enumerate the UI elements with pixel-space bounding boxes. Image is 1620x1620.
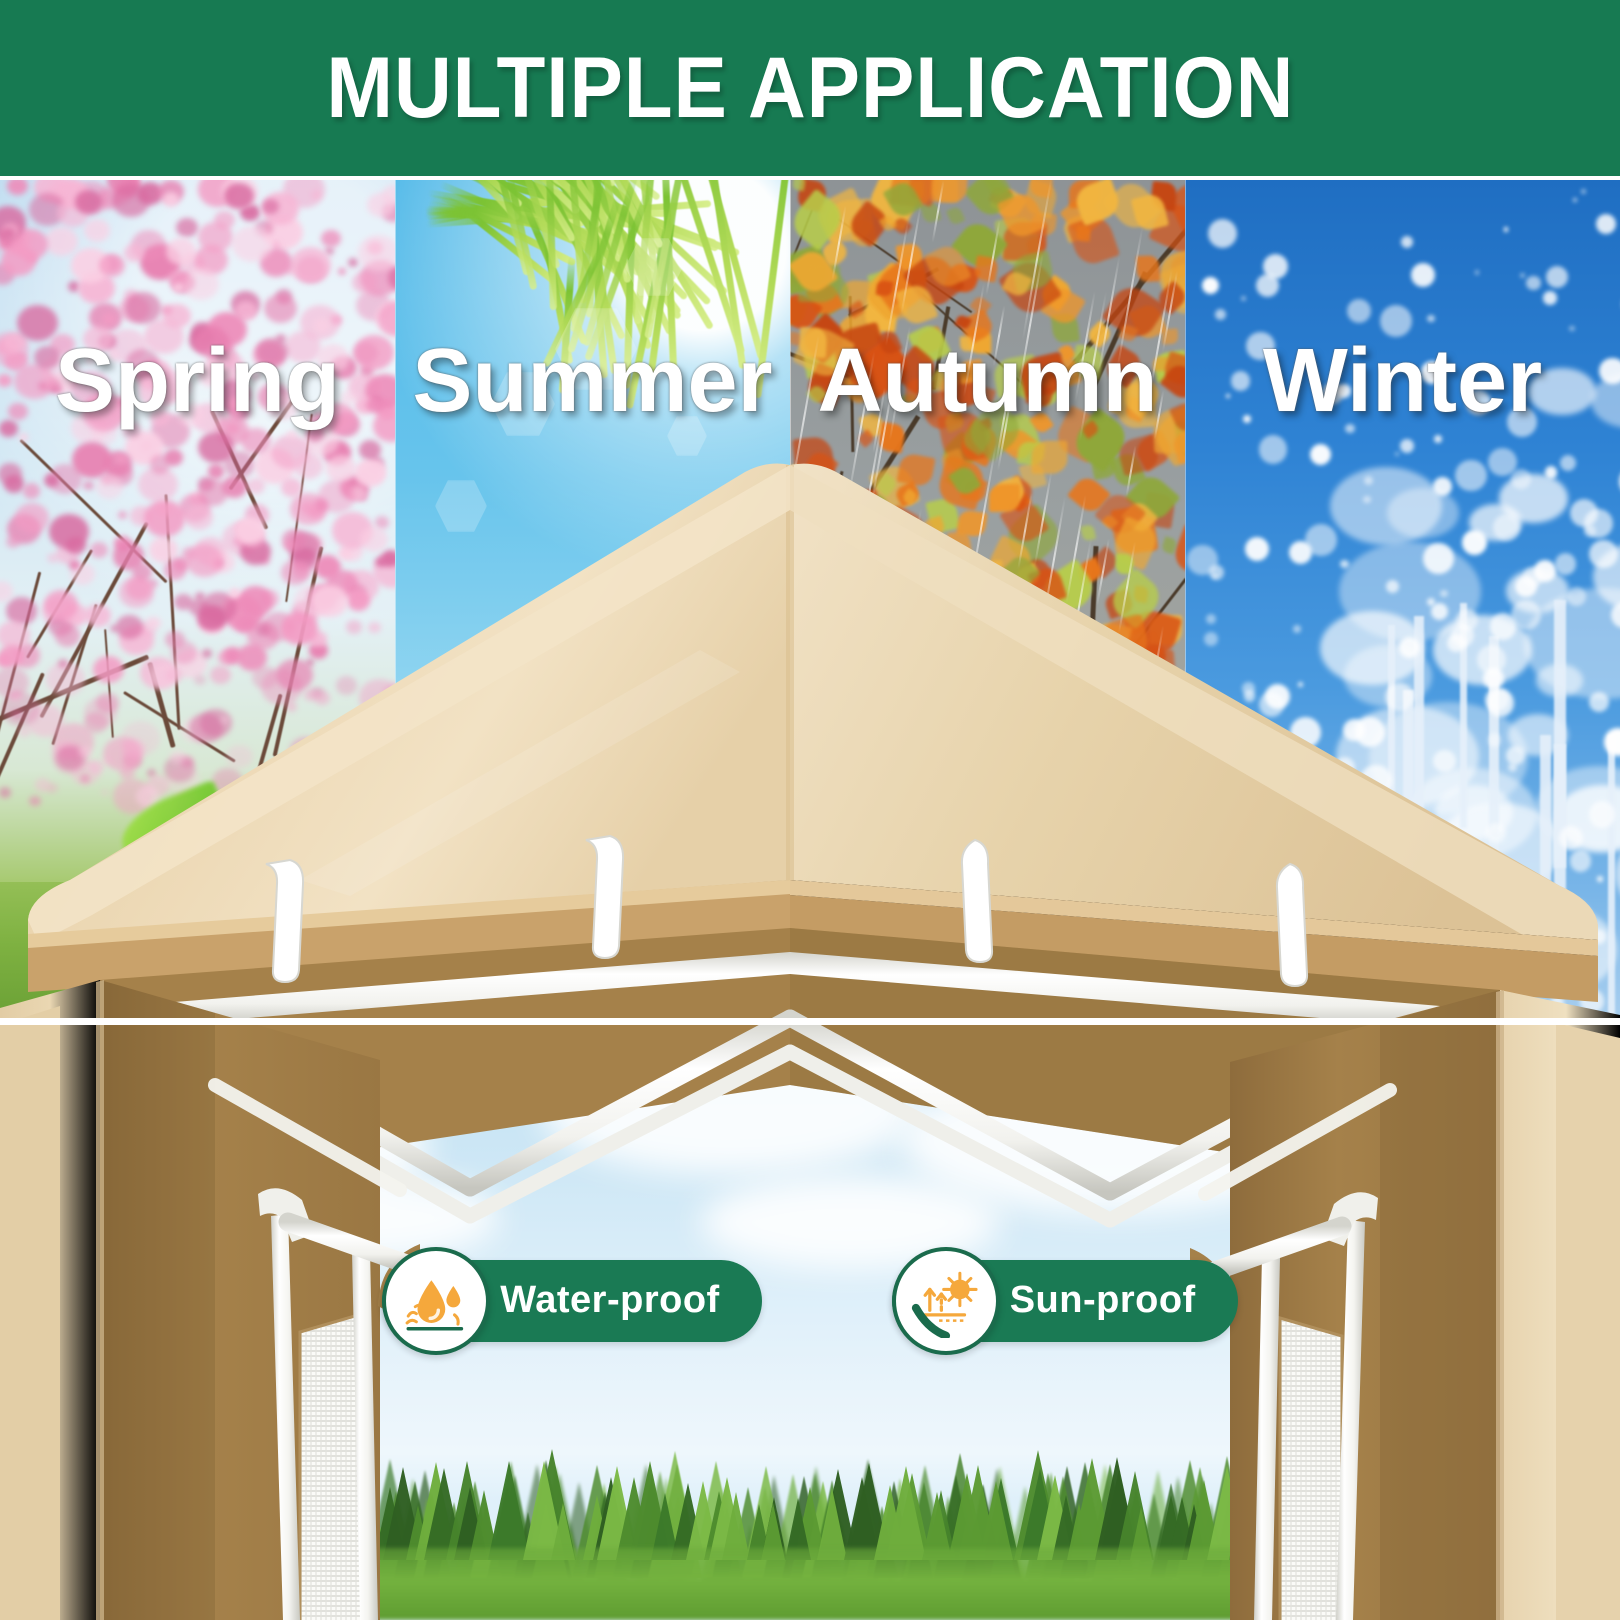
- snowflake: [1240, 1006, 1244, 1010]
- feature-badge-row: Water-proof Sun-proof: [0, 1243, 1620, 1358]
- season-panel-summer: Summer: [395, 180, 790, 1022]
- snowflake: [1567, 587, 1586, 606]
- cherry-blossom: [170, 750, 186, 764]
- cherry-blossom: [85, 604, 111, 627]
- cherry-blossom: [47, 553, 59, 564]
- snowflake: [1551, 995, 1565, 1009]
- season-label-summer: Summer: [395, 330, 790, 433]
- cherry-blossom: [166, 668, 183, 683]
- frosted-trunk: [1608, 735, 1616, 1022]
- cherry-blossom: [338, 268, 347, 276]
- feature-badge-waterproof[interactable]: Water-proof: [382, 1247, 761, 1355]
- cherry-blossom: [292, 562, 312, 579]
- snowflake: [1534, 560, 1555, 581]
- snowflake: [1462, 530, 1487, 555]
- season-panel-autumn: Autumn: [790, 180, 1185, 1022]
- cherry-blossom: [311, 585, 348, 618]
- cherry-blossom: [284, 540, 295, 550]
- snowflake: [1370, 825, 1398, 853]
- cherry-blossom: [176, 218, 197, 237]
- cherry-blossom: [346, 620, 362, 634]
- cherry-blossom: [171, 641, 198, 664]
- cherry-blossom: [185, 505, 213, 530]
- cherry-blossom: [264, 294, 297, 323]
- cherry-blossom: [163, 192, 179, 206]
- snowflake: [1279, 904, 1289, 914]
- rain-streak: [947, 938, 958, 990]
- snowflake: [1360, 765, 1391, 796]
- snowflake: [1597, 876, 1603, 882]
- snowflake: [1395, 452, 1399, 456]
- snowflake: [1596, 214, 1616, 234]
- cherry-blossom: [352, 272, 376, 293]
- cherry-blossom: [364, 721, 395, 751]
- page-title: MULTIPLE APPLICATION: [326, 39, 1294, 138]
- snowflake: [1589, 801, 1616, 828]
- cherry-blossom: [116, 615, 142, 638]
- maple-leaf: [1031, 441, 1068, 474]
- cherry-blossom: [115, 454, 127, 464]
- cherry-blossom: [238, 586, 274, 617]
- cherry-blossom: [144, 500, 185, 536]
- pine-tree: [886, 1466, 926, 1560]
- snowflake: [1340, 983, 1366, 1009]
- snowflake: [1297, 805, 1307, 815]
- cherry-blossom: [75, 190, 102, 214]
- cherry-blossom: [276, 659, 313, 692]
- cloud: [540, 1045, 920, 1175]
- snowflake: [1447, 634, 1466, 653]
- cherry-blossom: [84, 698, 117, 727]
- snowflake: [1434, 435, 1442, 443]
- frosted-trunk: [1403, 690, 1415, 1022]
- snowflake: [1573, 198, 1577, 202]
- cherry-blossom: [336, 676, 357, 694]
- snowflake: [1475, 270, 1480, 275]
- cherry-blossom: [173, 283, 183, 292]
- snowflake: [1401, 236, 1413, 248]
- rain-streak: [836, 846, 852, 927]
- water-drop-icon: [382, 1247, 490, 1355]
- cherry-blossom: [101, 789, 109, 796]
- maple-leaf: [791, 180, 806, 191]
- rain-streak: [910, 781, 941, 947]
- cherry-blossom: [281, 612, 318, 645]
- snowflake: [1215, 309, 1226, 320]
- snowflake: [1487, 689, 1514, 716]
- snowflake: [1266, 769, 1286, 789]
- cherry-blossom: [378, 752, 395, 774]
- maple-leaf: [1046, 720, 1067, 743]
- snowflake: [1493, 514, 1520, 541]
- cherry-blossom: [355, 461, 385, 487]
- panel-divider: [1185, 180, 1186, 1022]
- snowflake: [1252, 851, 1269, 868]
- cherry-blossom: [72, 442, 112, 478]
- cherry-blossom: [55, 624, 81, 647]
- product-marketing-image: MULTIPLE APPLICATION Spring Summer Autum…: [0, 0, 1620, 1620]
- snowflake: [1535, 955, 1547, 967]
- cherry-blossom: [290, 247, 331, 283]
- snowflake: [1580, 989, 1603, 1012]
- sunproof-label: Sun-proof: [1010, 1279, 1196, 1322]
- panel-divider: [395, 180, 396, 1022]
- snowflake: [1242, 682, 1254, 694]
- snowflake: [1570, 850, 1591, 871]
- maple-leaf: [1007, 588, 1027, 607]
- snowflake: [1584, 509, 1613, 538]
- snowflake: [1440, 590, 1448, 598]
- snowflake: [1386, 580, 1399, 593]
- snowflake: [1277, 828, 1287, 838]
- horizontal-divider: [0, 1018, 1620, 1025]
- pine-forest: [0, 1370, 1620, 1620]
- snowflake: [1589, 692, 1609, 712]
- cherry-blossom: [83, 481, 94, 491]
- snowflake: [1604, 728, 1620, 755]
- frosted-trunk: [1414, 616, 1424, 985]
- snowflake: [1290, 717, 1321, 748]
- snowflake: [1344, 850, 1362, 868]
- cherry-blossom: [359, 679, 395, 716]
- snowflake: [1545, 466, 1558, 479]
- snowflake: [1511, 469, 1531, 489]
- cherry-blossom: [368, 622, 380, 633]
- snowflake: [1460, 955, 1483, 978]
- cherry-blossom: [15, 503, 49, 533]
- snowflake: [1589, 540, 1617, 568]
- snowflake: [1520, 273, 1525, 278]
- cherry-blossom: [208, 464, 224, 478]
- snowflake: [1206, 614, 1216, 624]
- snowflake: [1526, 276, 1540, 290]
- beach-pier: [395, 976, 790, 992]
- maple-leaf: [931, 180, 968, 203]
- cherry-blossom: [18, 726, 31, 737]
- cherry-blossom: [288, 759, 304, 773]
- panel-divider: [790, 180, 791, 1022]
- snowflake: [1385, 683, 1414, 712]
- maple-leaf: [989, 560, 1002, 572]
- cherry-blossom: [113, 542, 144, 570]
- frosted-trunk: [1540, 735, 1550, 980]
- snowflake: [1259, 692, 1284, 717]
- lens-flare: [435, 480, 487, 532]
- maple-leaf: [1043, 625, 1061, 643]
- cherry-blossom: [224, 183, 254, 209]
- snowflake: [1504, 227, 1508, 231]
- frosted-trunk: [1388, 625, 1395, 832]
- cherry-blossom: [112, 184, 150, 217]
- cherry-blossom: [19, 433, 29, 442]
- sun-uv-icon: [892, 1247, 1000, 1355]
- rain-streak: [870, 832, 885, 905]
- season-panel-winter: Winter: [1185, 180, 1620, 1022]
- snowflake: [1543, 291, 1556, 304]
- cherry-blossom: [232, 226, 272, 261]
- season-collage: Spring Summer Autumn Winter: [0, 180, 1620, 1022]
- cherry-blossom: [99, 254, 125, 277]
- cherry-blossom: [198, 222, 233, 253]
- cherry-blossom: [220, 716, 229, 724]
- snowflake: [1187, 545, 1217, 575]
- cherry-blossom: [78, 746, 91, 758]
- snowflake: [1486, 823, 1506, 843]
- header-banner: MULTIPLE APPLICATION: [0, 0, 1620, 176]
- snowflake: [1581, 189, 1587, 195]
- cherry-blossom: [45, 227, 78, 256]
- rain-streak: [960, 793, 988, 943]
- cherry-blossom: [118, 511, 127, 519]
- cherry-blossom: [360, 527, 388, 552]
- snowflake: [1400, 439, 1414, 453]
- snowflake: [1427, 315, 1434, 322]
- snowflake: [1310, 444, 1331, 465]
- cherry-blossom: [1, 245, 36, 276]
- forest-understory: [0, 1548, 1620, 1620]
- cherry-blossom: [96, 475, 123, 499]
- maple-leaf: [1080, 524, 1096, 541]
- snowflake: [1293, 625, 1301, 633]
- cherry-blossom: [84, 219, 110, 242]
- season-label-autumn: Autumn: [790, 330, 1185, 433]
- cherry-blossom: [226, 745, 253, 768]
- maple-leaf: [1136, 255, 1160, 282]
- cherry-blossom: [247, 478, 266, 494]
- snowflake: [1347, 299, 1371, 323]
- snowflake: [1340, 560, 1348, 568]
- cherry-blossom: [300, 501, 317, 516]
- snowflake: [1439, 998, 1449, 1008]
- cherry-blossom: [348, 258, 358, 267]
- snowflake: [1298, 682, 1303, 687]
- cherry-blossom: [194, 675, 206, 685]
- maple-leaf: [988, 484, 1019, 512]
- waterproof-label: Water-proof: [500, 1279, 719, 1322]
- cherry-blossom: [354, 783, 388, 813]
- rain-streak: [790, 877, 813, 1005]
- snowflake: [1259, 435, 1288, 464]
- rain-streak: [903, 789, 917, 859]
- snowflake: [1559, 933, 1586, 960]
- maple-leaf: [848, 590, 875, 620]
- maple-leaf: [942, 716, 969, 745]
- cherry-blossom: [294, 453, 323, 479]
- snowflake: [1202, 277, 1219, 294]
- maple-leaf: [839, 560, 858, 581]
- cherry-blossom: [343, 752, 377, 782]
- snowflake: [1296, 861, 1312, 877]
- season-label-spring: Spring: [0, 330, 395, 433]
- snowflake: [1555, 553, 1577, 575]
- rain-streak: [896, 872, 910, 942]
- cherry-blossom: [7, 180, 27, 195]
- cherry-blossom: [6, 536, 19, 548]
- snowflake: [1204, 632, 1218, 646]
- cherry-blossom: [146, 617, 161, 630]
- snowflake: [1364, 476, 1373, 485]
- snowflake: [1187, 715, 1214, 742]
- cherry-blossom: [88, 760, 103, 773]
- rain-streak: [829, 956, 856, 1022]
- cherry-blossom: [358, 235, 395, 271]
- maple-leaf: [790, 528, 805, 547]
- cherry-blossom: [44, 590, 78, 620]
- snowflake: [1256, 274, 1279, 297]
- snowflake: [1488, 733, 1502, 747]
- frosted-foliage: [1330, 467, 1442, 545]
- cherry-blossom: [103, 737, 142, 771]
- maple-leaf: [1076, 225, 1091, 241]
- maple-leaf: [1019, 709, 1045, 734]
- cherry-blossom: [347, 590, 371, 611]
- snowflake: [1423, 543, 1454, 574]
- cherry-blossom: [229, 588, 240, 597]
- cherry-blossom: [321, 230, 340, 247]
- cherry-blossom: [164, 449, 183, 466]
- snowflake: [1334, 757, 1355, 778]
- cherry-blossom: [186, 544, 223, 577]
- tropical-sea: [395, 902, 790, 1022]
- season-panel-spring: Spring: [0, 180, 395, 1022]
- season-label-winter: Winter: [1185, 330, 1620, 433]
- maple-leaf: [896, 452, 935, 488]
- maple-leaf: [855, 534, 880, 561]
- cherry-blossom: [164, 560, 186, 579]
- snowflake: [1245, 537, 1269, 561]
- snowflake: [1215, 922, 1247, 954]
- rain-streak: [871, 925, 886, 1002]
- rain-streak: [1158, 817, 1184, 953]
- cherry-blossom: [0, 645, 24, 667]
- snowflake: [1241, 296, 1246, 301]
- snowflake: [1431, 603, 1448, 620]
- cherry-blossom: [23, 483, 41, 498]
- cherry-blossom: [210, 666, 231, 684]
- snowflake: [1309, 878, 1314, 883]
- snowflake: [1281, 971, 1300, 990]
- cherry-blossom: [222, 476, 247, 498]
- snowflake: [1433, 477, 1452, 496]
- cherry-blossom: [359, 440, 381, 460]
- cherry-blossom: [367, 193, 395, 217]
- spring-grass: [0, 882, 395, 1022]
- rain-streak: [924, 945, 938, 1013]
- cherry-blossom: [235, 517, 266, 544]
- snowflake: [1208, 219, 1237, 248]
- cherry-blossom: [166, 238, 196, 265]
- cherry-blossom: [119, 577, 154, 608]
- cherry-blossom: [49, 514, 89, 549]
- cherry-blossom: [29, 796, 41, 806]
- cherry-blossom: [183, 268, 219, 300]
- cherry-blossom: [102, 313, 116, 325]
- snowflake: [1559, 826, 1583, 850]
- snowflake: [1411, 263, 1435, 287]
- snowflake: [1360, 837, 1365, 842]
- cherry-blossom: [93, 656, 124, 683]
- cherry-blossom: [1, 228, 14, 240]
- snowflake: [1508, 763, 1517, 772]
- snowflake: [1305, 524, 1337, 556]
- cherry-blossom: [90, 542, 108, 558]
- cherry-blossom: [0, 787, 11, 798]
- cherry-blossom: [197, 605, 227, 631]
- cherry-blossom: [35, 778, 51, 792]
- cherry-blossom: [381, 550, 395, 567]
- cherry-blossom: [304, 689, 317, 700]
- feature-badge-sunproof[interactable]: Sun-proof: [892, 1247, 1238, 1355]
- snowflake: [1433, 750, 1455, 772]
- cherry-blossom: [286, 702, 298, 712]
- maple-leaf: [947, 206, 966, 226]
- maple-leaf: [1154, 700, 1185, 730]
- cherry-blossom: [202, 649, 212, 658]
- snowflake: [1483, 668, 1504, 689]
- snowflake: [1452, 869, 1479, 896]
- snowflake: [1560, 455, 1576, 471]
- maple-leaf: [939, 653, 958, 674]
- maple-leaf: [1078, 776, 1113, 808]
- snowflake: [1591, 929, 1606, 944]
- cherry-blossom: [198, 432, 234, 464]
- snowflake: [1546, 266, 1568, 288]
- snowflake: [1394, 943, 1417, 966]
- rain-streak: [1022, 804, 1052, 962]
- snowflake: [1511, 600, 1541, 630]
- cherry-blossom: [125, 292, 161, 324]
- snowflake: [1455, 460, 1487, 492]
